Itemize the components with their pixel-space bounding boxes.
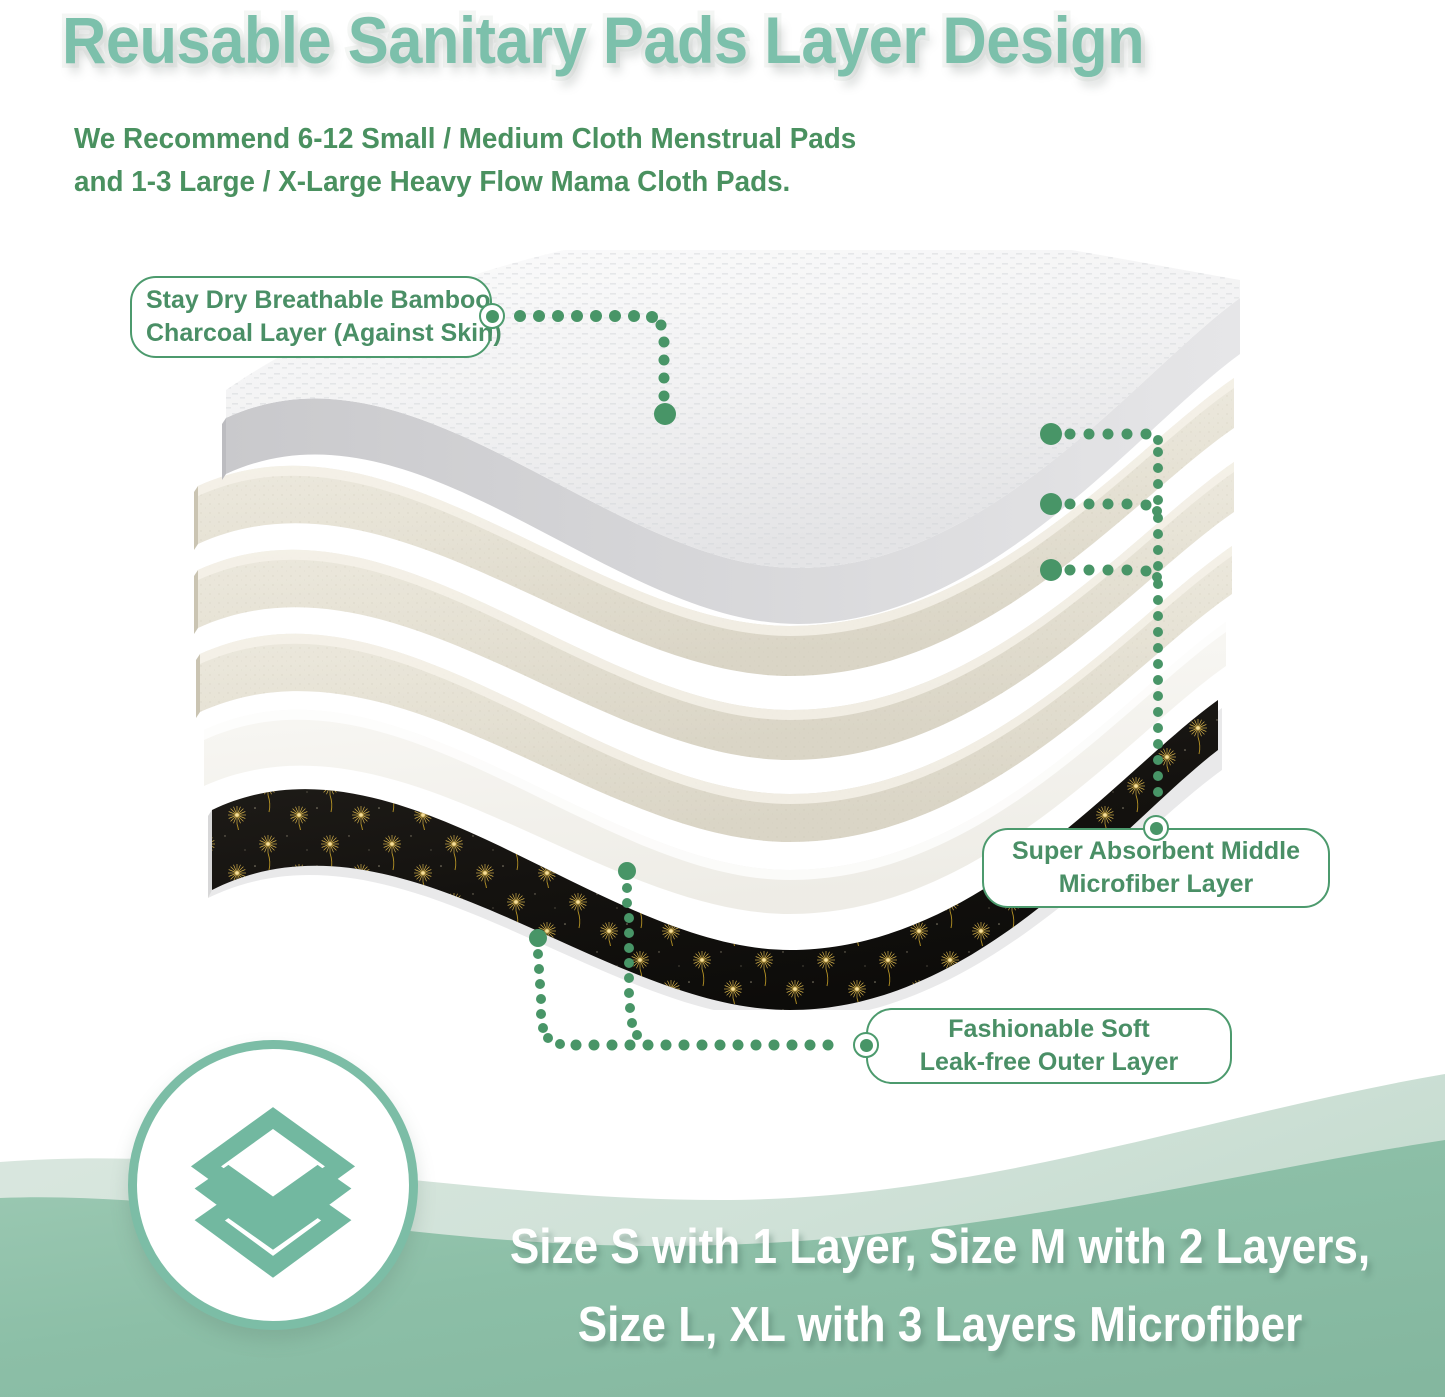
callout-top-line-2: Charcoal Layer (Against Skin): [146, 317, 502, 350]
connector-node-top: [479, 303, 505, 329]
subtitle-line-1: We Recommend 6-12 Small / Medium Cloth M…: [74, 118, 1015, 161]
subtitle: We Recommend 6-12 Small / Medium Cloth M…: [74, 118, 1015, 204]
connector-node-middle: [1143, 815, 1169, 841]
callout-middle-line-2: Microfiber Layer: [1012, 868, 1300, 901]
banner-text: Size S with 1 Layer, Size M with 2 Layer…: [490, 1208, 1390, 1364]
layers-stack-icon: [180, 1092, 366, 1278]
callout-bamboo-charcoal-layer[interactable]: Stay Dry Breathable Bamboo Charcoal Laye…: [130, 276, 492, 358]
callout-top-line-1: Stay Dry Breathable Bamboo: [146, 284, 502, 317]
infographic-page: Reusable Sanitary Pads Layer Design We R…: [0, 0, 1445, 1397]
banner-line-1: Size S with 1 Layer, Size M with 2 Layer…: [490, 1208, 1390, 1286]
banner-line-2: Size L, XL with 3 Layers Microfiber: [490, 1286, 1390, 1364]
layers-badge: [128, 1040, 418, 1330]
page-title: Reusable Sanitary Pads Layer Design: [62, 2, 1234, 80]
subtitle-line-2: and 1-3 Large / X-Large Heavy Flow Mama …: [74, 161, 1015, 204]
